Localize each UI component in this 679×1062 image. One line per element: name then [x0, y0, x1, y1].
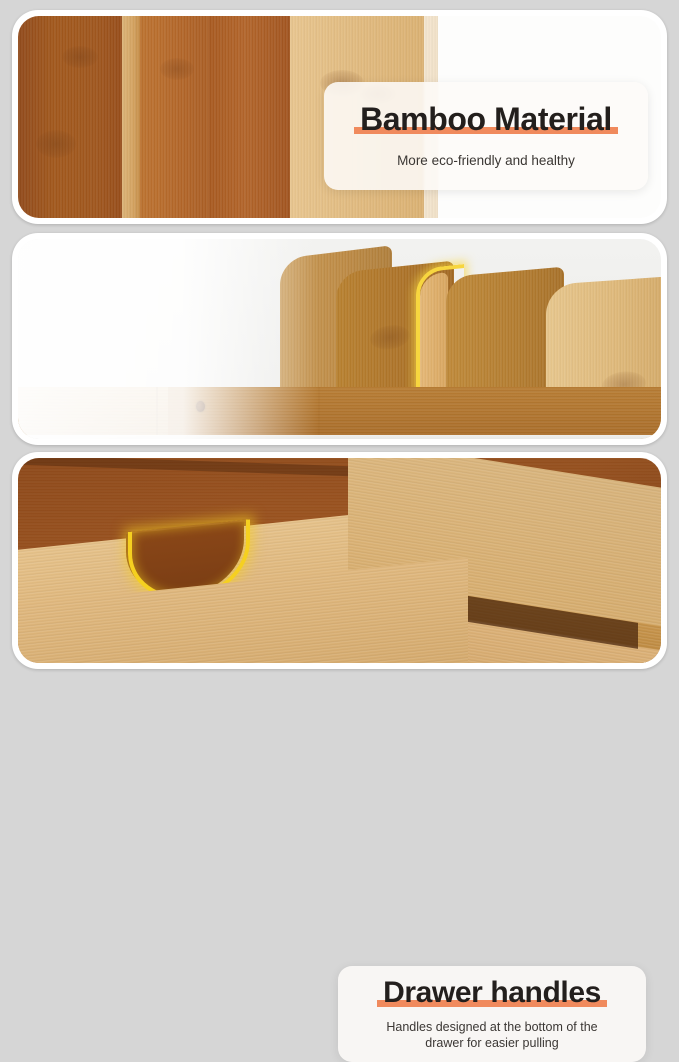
- feature-panel-smooth-design: Smooth design Attention to detail in scr…: [12, 233, 667, 445]
- panel-photo-drawer-handle: [18, 458, 661, 663]
- feature-board: Bamboo Material More eco-friendly and he…: [0, 0, 679, 679]
- panel-headline: Drawer handles: [383, 977, 601, 1009]
- photo-vignette: [18, 458, 661, 663]
- panel-subline: More eco-friendly and healthy: [397, 152, 575, 169]
- panel-photo-divider-panels: [18, 239, 661, 439]
- panel-subline: Handles designed at the bottom of the dr…: [386, 1019, 597, 1051]
- panel-headline: Bamboo Material: [360, 103, 612, 137]
- feature-panel-drawer-handles: Drawer handles Handles designed at the b…: [12, 452, 667, 669]
- headline-wrap: Drawer handles: [383, 977, 601, 1009]
- text-card-drawer-handles: Drawer handles Handles designed at the b…: [338, 966, 646, 1062]
- text-card-bamboo-material: Bamboo Material More eco-friendly and he…: [324, 82, 648, 190]
- headline-wrap: Bamboo Material: [360, 103, 612, 137]
- feature-panel-bamboo-material: Bamboo Material More eco-friendly and he…: [12, 10, 667, 224]
- photo-left-wash: [18, 239, 318, 439]
